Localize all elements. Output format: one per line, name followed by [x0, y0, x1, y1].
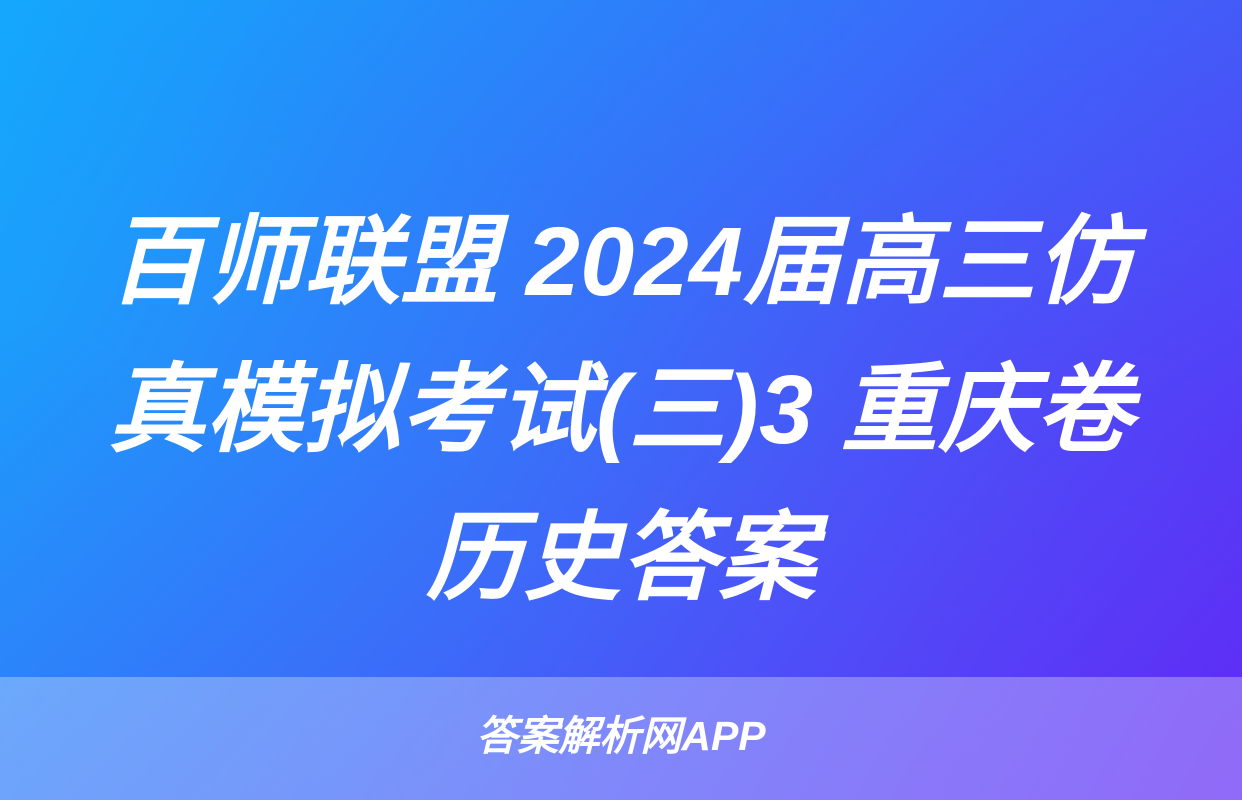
headline-line-3: 历史答案: [30, 484, 1212, 632]
answer-poster: 百师联盟 2024届高三仿 真模拟考试(三)3 重庆卷 历史答案 答案解析网AP…: [0, 0, 1242, 800]
headline-line-2: 真模拟考试(三)3 重庆卷: [30, 336, 1212, 484]
watermark-app-label: 答案解析网APP: [476, 716, 765, 757]
watermark-band: 答案解析网APP: [0, 677, 1242, 800]
headline-block: 百师联盟 2024届高三仿 真模拟考试(三)3 重庆卷 历史答案: [0, 188, 1242, 632]
headline-line-1: 百师联盟 2024届高三仿: [30, 188, 1212, 336]
